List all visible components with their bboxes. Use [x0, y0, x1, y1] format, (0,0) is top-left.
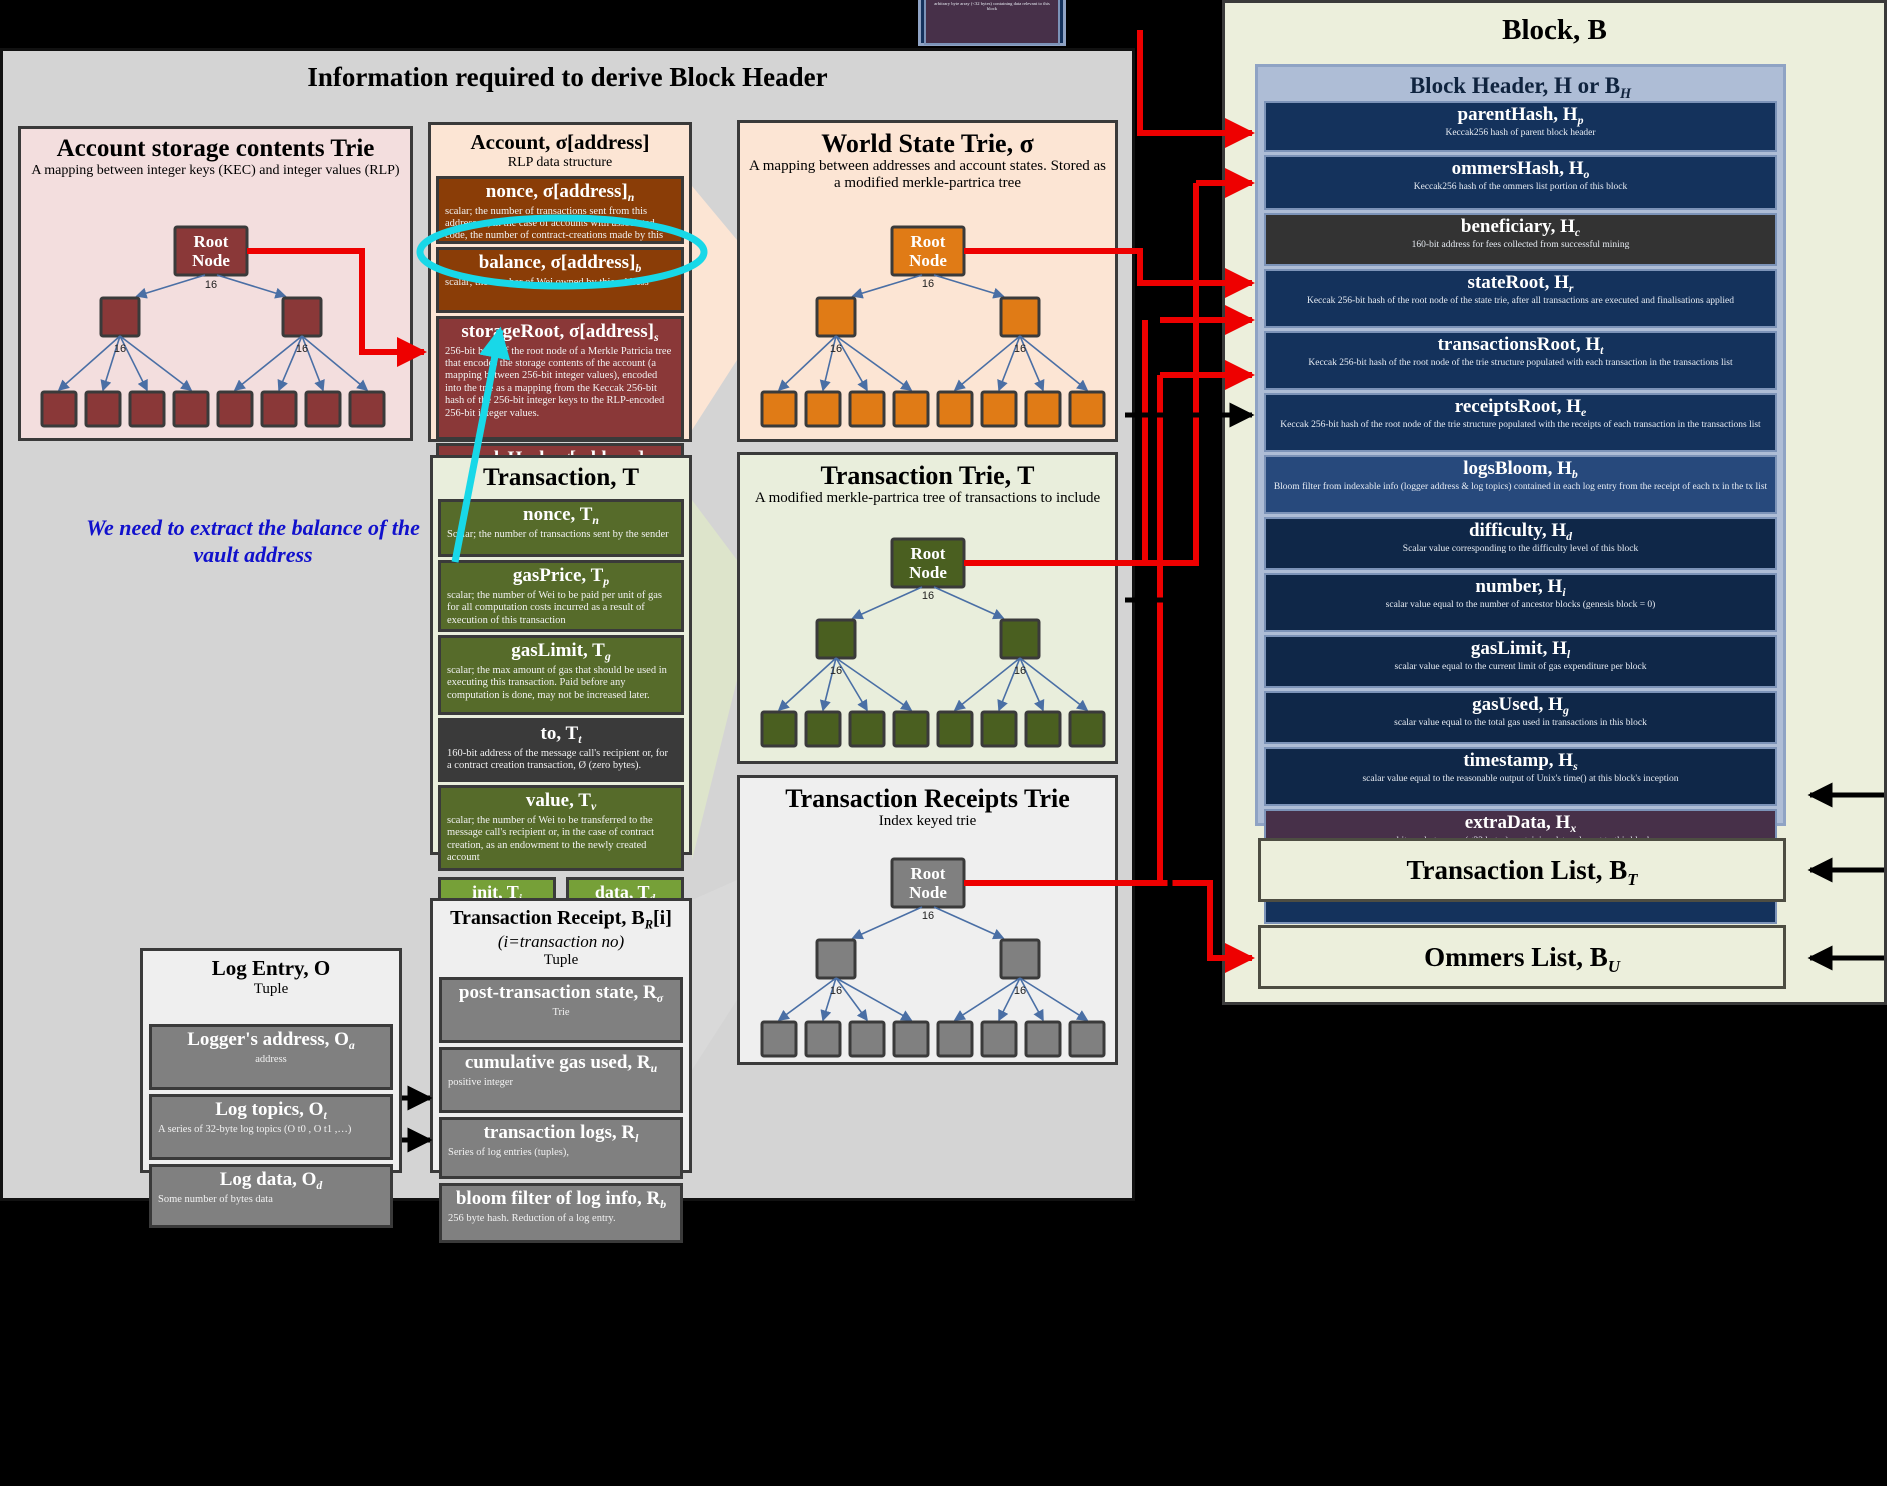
field-description: arbitrary byte array (<32 bytes) contain… — [930, 1, 1054, 11]
field-description: scalar; the max amount of gas that shoul… — [447, 665, 675, 702]
field-name: gasUsed, Hg — [1270, 695, 1771, 718]
log-entry-field-2: Log data, OdSome number of bytes data — [149, 1164, 393, 1228]
field-name: transactionsRoot, Ht — [1270, 335, 1771, 358]
top-partial-field-1: extraData, Hxarbitrary byte array (<32 b… — [924, 0, 1060, 45]
transaction-field-4: value, Tvscalar; the number of Wei to be… — [438, 785, 684, 871]
field-name: gasLimit, Hl — [1270, 639, 1771, 662]
field-description: positive integer — [448, 1077, 674, 1089]
field-description: 256 byte hash. Reduction of a log entry. — [448, 1213, 674, 1225]
account-field-0: nonce, σ[address]nscalar; the number of … — [436, 176, 684, 244]
transaction-field-2: gasLimit, Tgscalar; the max amount of ga… — [438, 635, 684, 715]
block-header-field-10: gasUsed, Hgscalar value equal to the tot… — [1264, 691, 1777, 744]
block-header-field-3: stateRoot, HrKeccak 256-bit hash of the … — [1264, 269, 1777, 328]
account-title: Account, σ[address] — [435, 131, 685, 155]
transaction-trie-subtitle: A modified merkle-partrica tree of trans… — [744, 490, 1111, 507]
field-description: scalar value equal to the number of ance… — [1270, 600, 1771, 611]
field-description: scalar; the number of Wei to be transfer… — [447, 815, 675, 865]
annotation-text: We need to extract the balance of the va… — [78, 515, 428, 569]
field-name: gasLimit, Tg — [447, 641, 675, 664]
transaction-trie-card: Transaction Trie, T A modified merkle-pa… — [737, 452, 1118, 764]
field-name: Logger's address, Oa — [158, 1030, 384, 1053]
field-description: scalar value equal to the total gas used… — [1270, 718, 1771, 729]
block-header-title: Block Header, H or BH — [1258, 73, 1783, 103]
field-name: number, Hi — [1270, 577, 1771, 600]
receipt-field-0: post-transaction state, RσTrie — [439, 977, 683, 1043]
field-name: balance, σ[address]b — [445, 253, 675, 276]
world-state-trie-card: World State Trie, σ A mapping between ad… — [737, 120, 1118, 442]
field-description: scalar; the number of transactions sent … — [445, 206, 675, 244]
field-name: difficulty, Hd — [1270, 521, 1771, 544]
transaction-list-box: Transaction List, BT — [1258, 838, 1786, 902]
world-state-trie-title: World State Trie, σ — [744, 129, 1111, 158]
field-name: storageRoot, σ[address]s — [445, 322, 675, 345]
transaction-trie-title: Transaction Trie, T — [744, 461, 1111, 490]
field-description: Trie — [448, 1007, 674, 1019]
receipts-trie-title: Transaction Receipts Trie — [744, 784, 1111, 813]
receipt-field-3: bloom filter of log info, Rb256 byte has… — [439, 1183, 683, 1243]
transaction-receipt-fields: post-transaction state, RσTriecumulative… — [433, 977, 689, 1243]
block-header-field-11: timestamp, Hsscalar value equal to the r… — [1264, 747, 1777, 806]
field-name: timestamp, Hs — [1270, 751, 1771, 774]
top-partial-fields: timestamp, Hsscalar value equal to the r… — [921, 0, 1063, 45]
top-partial-header-card: timestamp, Hsscalar value equal to the r… — [918, 0, 1066, 46]
receipts-trie-subtitle: Index keyed trie — [744, 813, 1111, 830]
field-name: parentHash, Hp — [1270, 105, 1771, 128]
account-storage-trie-card: Account storage contents Trie A mapping … — [18, 126, 413, 441]
field-name: gasPrice, Tp — [447, 566, 675, 589]
field-name: to, Tt — [447, 724, 675, 747]
transaction-field-3: to, Tt160-bit address of the message cal… — [438, 718, 684, 782]
field-name: extraData, Hx — [1270, 813, 1771, 836]
block-header-field-1: ommersHash, HoKeccak256 hash of the omme… — [1264, 155, 1777, 210]
account-storage-trie-subtitle: A mapping between integer keys (KEC) and… — [25, 163, 406, 179]
field-name: post-transaction state, Rσ — [448, 983, 674, 1006]
transaction-field-1: gasPrice, Tpscalar; the number of Wei to… — [438, 560, 684, 632]
log-entry-field-0: Logger's address, Oaaddress — [149, 1024, 393, 1090]
field-name: nonce, σ[address]n — [445, 182, 675, 205]
field-name: value, Tv — [447, 791, 675, 814]
receipts-trie-card: Transaction Receipts Trie Index keyed tr… — [737, 775, 1118, 1065]
field-description: scalar; the number of Wei owned by this … — [445, 277, 675, 289]
ommers-list-box: Ommers List, BU — [1258, 925, 1786, 989]
block-header-field-4: transactionsRoot, HtKeccak 256-bit hash … — [1264, 331, 1777, 390]
field-description: Keccak256 hash of parent block header — [1270, 128, 1771, 139]
field-description: scalar; the number of Wei to be paid per… — [447, 590, 675, 627]
block-header-field-6: logsBloom, HbBloom filter from indexable… — [1264, 455, 1777, 514]
field-name: logsBloom, Hb — [1270, 459, 1771, 482]
world-state-trie-subtitle: A mapping between addresses and account … — [744, 158, 1111, 193]
transaction-receipt-card: Transaction Receipt, BR[i] (i=transactio… — [430, 898, 692, 1173]
field-name: nonce, Tn — [447, 505, 675, 528]
block-header-field-7: difficulty, HdScalar value corresponding… — [1264, 517, 1777, 570]
field-description: Series of log entries (tuples), — [448, 1147, 674, 1159]
transaction-receipt-subtitle-1: (i=transaction no) — [437, 932, 685, 952]
account-subtitle: RLP data structure — [435, 155, 685, 171]
field-description: address — [158, 1054, 384, 1066]
field-description: Keccak256 hash of the ommers list portio… — [1270, 182, 1771, 193]
field-description: A series of 32-byte log topics (O t0 , O… — [158, 1124, 384, 1136]
field-description: Keccak 256-bit hash of the root node of … — [1270, 358, 1771, 369]
field-name: Log data, Od — [158, 1170, 384, 1193]
field-name: stateRoot, Hr — [1270, 273, 1771, 296]
transaction-card: Transaction, T nonce, TnScalar; the numb… — [430, 455, 692, 855]
transaction-receipt-title: Transaction Receipt, BR[i] — [437, 907, 685, 932]
field-name: receiptsRoot, He — [1270, 397, 1771, 420]
transaction-receipt-subtitle-2: Tuple — [437, 952, 685, 969]
field-description: Keccak 256-bit hash of the root node of … — [1270, 420, 1771, 431]
field-description: Bloom filter from indexable info (logger… — [1270, 482, 1771, 493]
field-name: ommersHash, Ho — [1270, 159, 1771, 182]
log-entry-title: Log Entry, O — [147, 957, 395, 981]
receipt-field-2: transaction logs, RlSeries of log entrie… — [439, 1117, 683, 1179]
field-description: Some number of bytes data — [158, 1194, 384, 1206]
ommers-list-label: Ommers List, BU — [1261, 928, 1783, 996]
field-description: Scalar value corresponding to the diffic… — [1270, 544, 1771, 555]
transaction-list-label: Transaction List, BT — [1261, 841, 1783, 909]
account-field-1: balance, σ[address]bscalar; the number o… — [436, 247, 684, 313]
transaction-field-0: nonce, TnScalar; the number of transacti… — [438, 499, 684, 557]
block-header-field-5: receiptsRoot, HeKeccak 256-bit hash of t… — [1264, 393, 1777, 452]
transaction-title: Transaction, T — [437, 464, 685, 492]
field-description: Keccak 256-bit hash of the root node of … — [1270, 296, 1771, 307]
black-connector — [1160, 600, 1170, 1140]
block-header-field-0: parentHash, HpKeccak256 hash of parent b… — [1264, 101, 1777, 152]
block-title: Block, B — [1222, 14, 1887, 47]
account-card: Account, σ[address] RLP data structure n… — [428, 122, 692, 442]
main-panel-title: Information required to derive Block Hea… — [0, 62, 1135, 93]
field-description: scalar value equal to the reasonable out… — [1270, 774, 1771, 785]
field-name: beneficiary, Hc — [1270, 217, 1771, 240]
field-description: 256-bit hash of the root node of a Merkl… — [445, 346, 675, 420]
log-entry-fields: Logger's address, OaaddressLog topics, O… — [143, 1024, 399, 1228]
block-header-card: Block Header, H or BH parentHash, HpKecc… — [1255, 64, 1786, 826]
account-field-2: storageRoot, σ[address]s256-bit hash of … — [436, 316, 684, 440]
log-entry-card: Log Entry, O Tuple Logger's address, Oaa… — [140, 948, 402, 1173]
account-storage-trie-title: Account storage contents Trie — [25, 135, 406, 163]
field-description: Scalar; the number of transactions sent … — [447, 529, 675, 541]
block-header-field-9: gasLimit, Hlscalar value equal to the cu… — [1264, 635, 1777, 688]
field-description: 160-bit address of the message call's re… — [447, 748, 675, 773]
block-header-field-2: beneficiary, Hc160-bit address for fees … — [1264, 213, 1777, 266]
field-description: 160-bit address for fees collected from … — [1270, 240, 1771, 251]
log-entry-subtitle: Tuple — [147, 981, 395, 998]
field-name: cumulative gas used, Ru — [448, 1053, 674, 1076]
log-entry-field-1: Log topics, OtA series of 32-byte log to… — [149, 1094, 393, 1160]
receipt-field-1: cumulative gas used, Rupositive integer — [439, 1047, 683, 1113]
field-description: scalar value equal to the current limit … — [1270, 662, 1771, 673]
block-header-field-8: number, Hiscalar value equal to the numb… — [1264, 573, 1777, 632]
field-name: bloom filter of log info, Rb — [448, 1189, 674, 1212]
field-name: Log topics, Ot — [158, 1100, 384, 1123]
field-name: transaction logs, Rl — [448, 1123, 674, 1146]
